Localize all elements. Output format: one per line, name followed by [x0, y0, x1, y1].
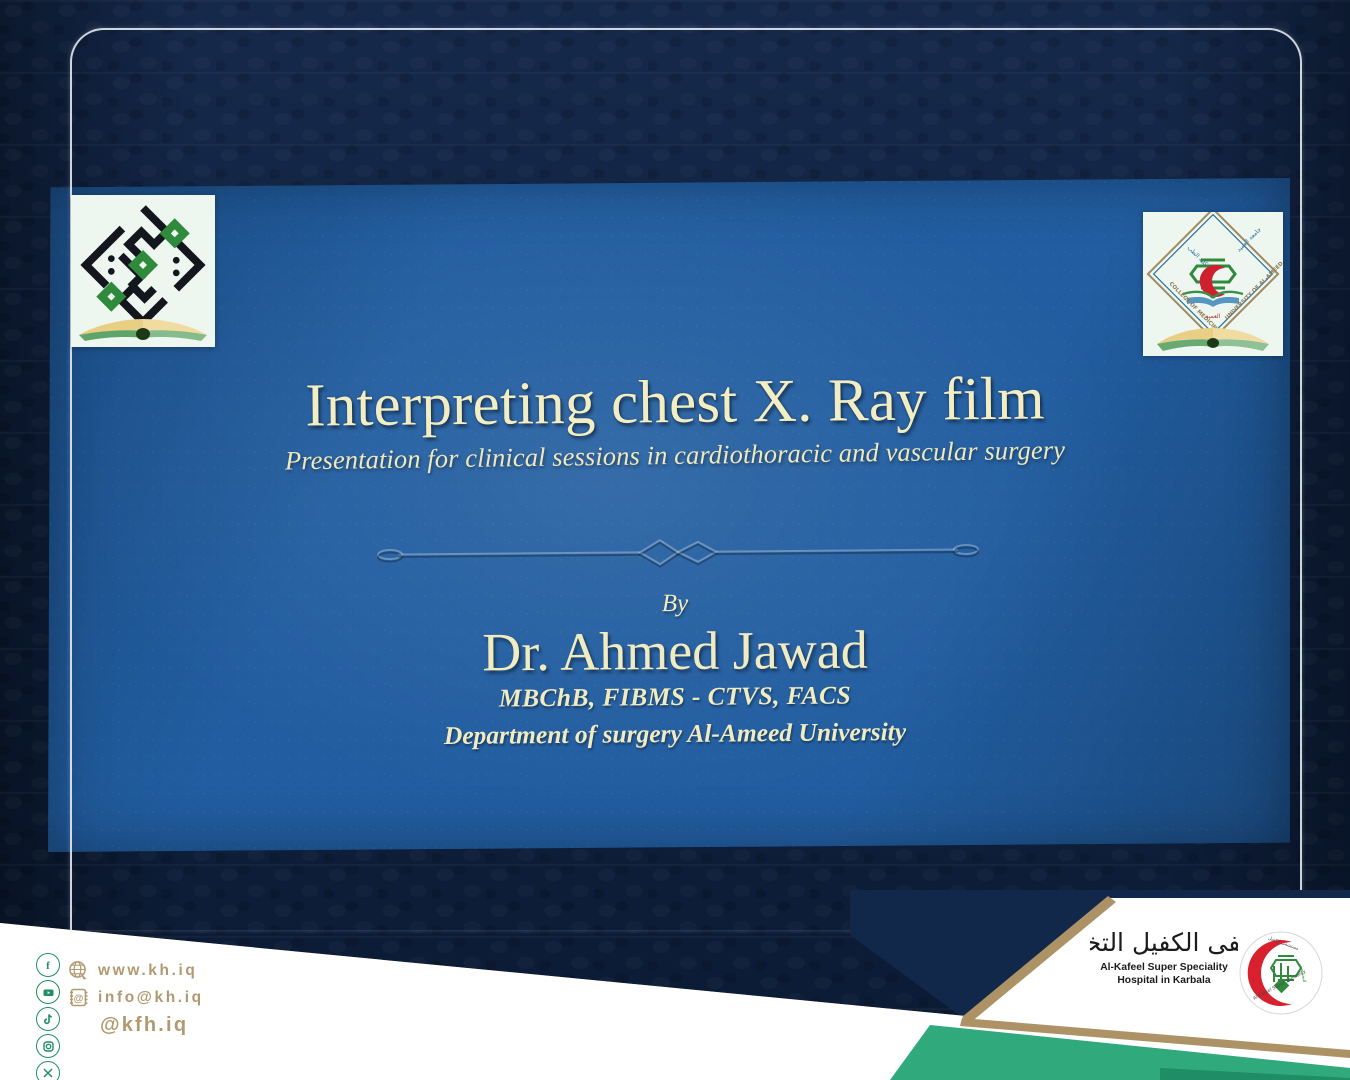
al-kafeel-red-crescent-seal: مستشفى الكفيل Al-Kafeel Super Speciality…: [1238, 930, 1324, 1016]
email-row[interactable]: @ info@kh.iq: [68, 987, 204, 1008]
college-of-medicine-crest: COLLEGE OF MEDICINE UNIVERSITY OF AL-AME…: [1143, 212, 1283, 356]
svg-text:@: @: [74, 994, 84, 1005]
presentation-photo-slide: COLLEGE OF MEDICINE UNIVERSITY OF AL-AME…: [0, 0, 1350, 1080]
x-twitter-icon[interactable]: [36, 1061, 60, 1080]
website-text: www.kh.iq: [98, 962, 197, 980]
svg-text:f: f: [46, 960, 50, 971]
author-credentials: MBChB, FIBMS - CTVS, FACS: [0, 676, 1350, 718]
hospital-brand-block: مستشفى الكفيل التخصصي Al-Kafeel Super Sp…: [1090, 925, 1238, 987]
website-row[interactable]: www.kh.iq: [68, 960, 204, 981]
slide-title-block: Interpreting chest X. Ray film Presentat…: [0, 372, 1350, 471]
hospital-name-line2: Hospital in Karbala: [1090, 974, 1238, 987]
hospital-arabic-calligraphy: مستشفى الكفيل التخصصي: [1090, 925, 1238, 959]
open-book-icon: [71, 311, 215, 347]
hospital-name-line1: Al-Kafeel Super Speciality: [1090, 961, 1238, 974]
facebook-icon[interactable]: f: [36, 953, 60, 977]
author-block: By Dr. Ahmed Jawad MBChB, FIBMS - CTVS, …: [0, 590, 1350, 749]
by-label: By: [0, 585, 1350, 622]
college-of-medicine-university-of-al-ameed-crest: COLLEGE OF MEDICINE UNIVERSITY OF AL-AME…: [1143, 212, 1283, 356]
globe-icon: [68, 960, 89, 981]
al-ameed-university-kufic-logo: [71, 195, 215, 347]
page-title: Interpreting chest X. Ray film: [0, 366, 1350, 440]
svg-text:العميد: العميد: [1206, 313, 1221, 320]
email-text: info@kh.iq: [98, 989, 204, 1007]
email-card-icon: @: [68, 987, 89, 1008]
social-handle-row[interactable]: @kfh.iq: [100, 1014, 204, 1037]
ornamental-divider-icon: [372, 531, 984, 572]
hospital-english-name: Al-Kafeel Super Speciality Hospital in K…: [1090, 961, 1238, 987]
instagram-icon[interactable]: [36, 1034, 60, 1058]
author-name: Dr. Ahmed Jawad: [0, 619, 1350, 684]
svg-text:جامعة العميد: جامعة العميد: [1235, 226, 1262, 253]
contact-info-column: www.kh.iq @ info@kh.iq @kfh.iq: [68, 960, 204, 1043]
youtube-icon[interactable]: [36, 980, 60, 1004]
author-department: Department of surgery Al-Ameed Universit…: [0, 713, 1350, 755]
social-handle-text: @kfh.iq: [100, 1014, 188, 1037]
tiktok-icon[interactable]: [36, 1007, 60, 1031]
social-icon-column: f: [36, 953, 60, 1080]
